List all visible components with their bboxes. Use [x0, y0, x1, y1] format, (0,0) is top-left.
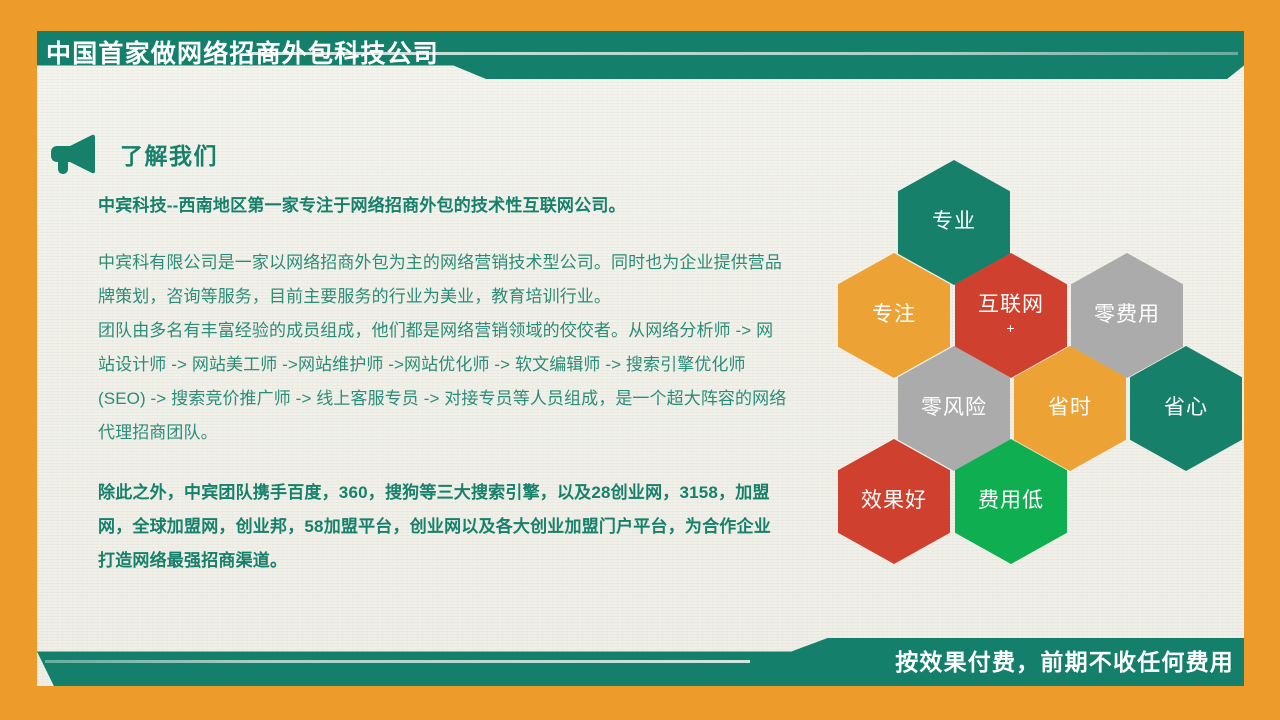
closing-statement: 除此之外，中宾团队携手百度，360，搜狗等三大搜索引擎，以及28创业网，3158…	[98, 476, 788, 578]
header-title: 中国首家做网络招商外包科技公司	[46, 36, 439, 72]
hexagon-label: 专业	[932, 210, 976, 234]
megaphone-icon	[48, 132, 98, 176]
hexagon-label: 专注	[872, 303, 916, 327]
hexagon-label: 零风险	[921, 396, 987, 420]
hexagon-label: 效果好	[861, 489, 927, 513]
slide-canvas: 中国首家做网络招商外包科技公司 了解我们 中宾科技--西南地区第一家专注于网络招…	[0, 0, 1280, 720]
paragraph-two: 团队由多名有丰富经验的成员组成，他们都是网络营销领域的佼佼者。从网络分析师 ->…	[98, 314, 788, 450]
hexagon-label: 费用低	[978, 489, 1044, 513]
hexagon-cluster: 专业专注互联网+零费用零风险省时省心效果好费用低	[838, 160, 1238, 540]
section-title: 了解我们	[120, 137, 218, 171]
hexagon-label: 零费用	[1094, 303, 1160, 327]
section-heading: 了解我们	[48, 132, 218, 176]
paragraph-one: 中宾科有限公司是一家以网络招商外包为主的网络营销技术型公司。同时也为企业提供营品…	[98, 246, 788, 314]
footer-accent-rule	[45, 660, 750, 663]
lead-statement: 中宾科技--西南地区第一家专注于网络招商外包的技术性互联网公司。	[98, 192, 788, 220]
hexagon-sublabel: +	[1006, 319, 1015, 339]
hexagon-label: 省心	[1164, 396, 1208, 420]
hexagon-label: 省时	[1048, 396, 1092, 420]
footer-tagline: 按效果付费，前期不收任何费用	[895, 645, 1234, 679]
body-copy: 中宾科技--西南地区第一家专注于网络招商外包的技术性互联网公司。 中宾科有限公司…	[98, 192, 788, 578]
hexagon-label: 互联网	[978, 293, 1044, 317]
